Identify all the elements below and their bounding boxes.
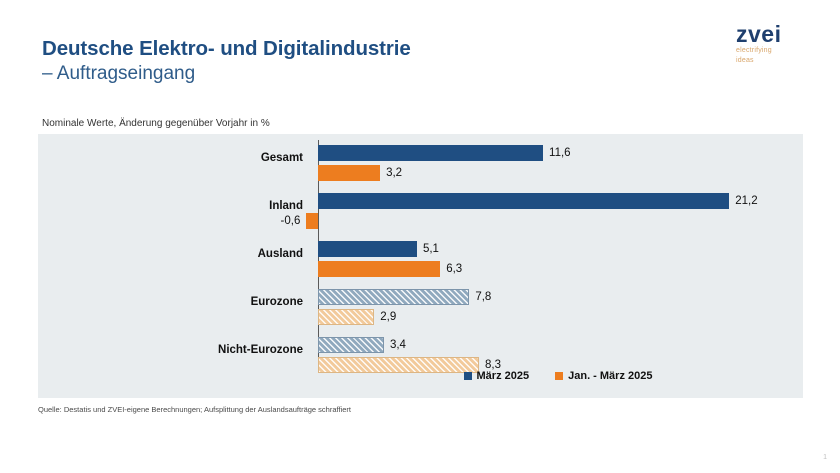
chart-legend: März 2025 Jan. - März 2025 xyxy=(318,370,798,382)
source-note: Quelle: Destatis und ZVEI-eigene Berechn… xyxy=(38,405,351,414)
chart-bar[interactable] xyxy=(318,289,469,305)
bar-value-label: 3,4 xyxy=(390,337,406,353)
logo-tagline-line2: ideas xyxy=(736,57,808,66)
zvei-logo: zvei electrifying ideas xyxy=(736,22,808,65)
chart-bar[interactable] xyxy=(318,309,374,325)
bar-value-label: -0,6 xyxy=(274,213,300,229)
legend-label: Jan. - März 2025 xyxy=(568,370,652,382)
logo-wordmark: zvei xyxy=(736,22,808,46)
chart-category-row: Eurozone7,82,9 xyxy=(38,284,803,332)
bar-value-label: 11,6 xyxy=(549,145,571,161)
bar-value-label: 5,1 xyxy=(423,241,439,257)
chart-bar[interactable] xyxy=(318,145,543,161)
slide-header: Deutsche Elektro- und Digitalindustrie –… xyxy=(0,0,840,110)
chart-bar[interactable] xyxy=(306,213,318,229)
page-number: 1 xyxy=(823,454,827,461)
legend-swatch-icon xyxy=(464,372,472,380)
chart-bar[interactable] xyxy=(318,337,384,353)
legend-label: März 2025 xyxy=(477,370,530,382)
chart-bar[interactable] xyxy=(318,165,380,181)
title-secondary: – Auftragseingang xyxy=(42,61,411,86)
bar-value-label: 7,8 xyxy=(475,289,491,305)
legend-item-jan-maerz-2025[interactable]: Jan. - März 2025 xyxy=(555,370,652,382)
category-bars: 21,2-0,6 xyxy=(38,188,803,236)
chart-category-row: Gesamt11,63,2 xyxy=(38,140,803,188)
page-title: Deutsche Elektro- und Digitalindustrie –… xyxy=(42,36,411,86)
logo-tagline-line1: electrifying xyxy=(736,47,808,56)
chart-bar[interactable] xyxy=(318,241,417,257)
chart-category-row: Ausland5,16,3 xyxy=(38,236,803,284)
chart-plot-area: Gesamt11,63,2Inland21,2-0,6Ausland5,16,3… xyxy=(38,134,803,398)
category-bars: 11,63,2 xyxy=(38,140,803,188)
bar-value-label: 6,3 xyxy=(446,261,462,277)
bar-value-label: 21,2 xyxy=(735,193,757,209)
bar-value-label: 2,9 xyxy=(380,309,396,325)
title-primary: Deutsche Elektro- und Digitalindustrie xyxy=(42,36,411,61)
chart-bar[interactable] xyxy=(318,261,440,277)
chart-caption: Nominale Werte, Änderung gegenüber Vorja… xyxy=(42,118,270,129)
legend-item-maerz-2025[interactable]: März 2025 xyxy=(464,370,530,382)
legend-swatch-icon xyxy=(555,372,563,380)
category-bars: 7,82,9 xyxy=(38,284,803,332)
category-bars: 5,16,3 xyxy=(38,236,803,284)
bar-value-label: 3,2 xyxy=(386,165,402,181)
chart-bar[interactable] xyxy=(318,193,729,209)
chart-category-row: Inland21,2-0,6 xyxy=(38,188,803,236)
